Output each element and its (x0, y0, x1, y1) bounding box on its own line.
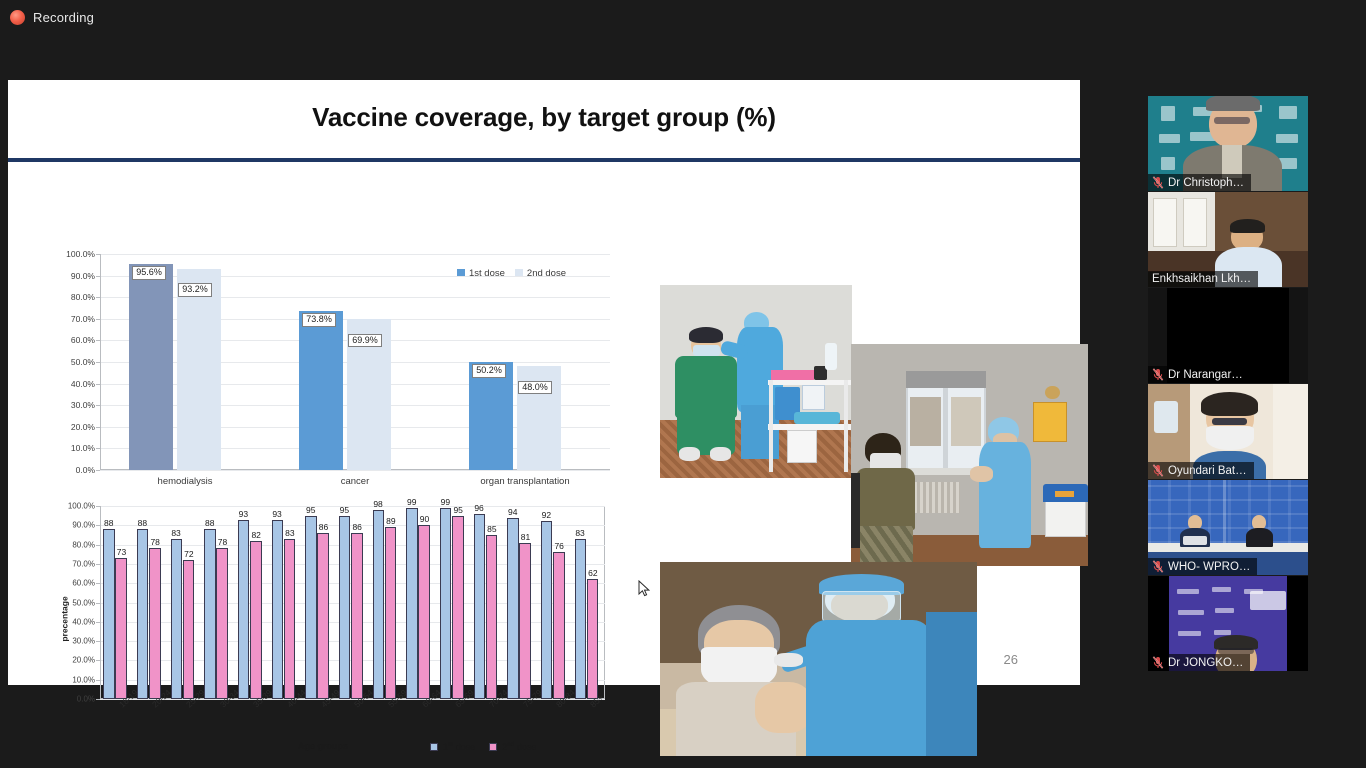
age-group-coverage-chart: precentage 0.0%10.0%20.0%30.0%40.0%50.0%… (40, 502, 620, 757)
legend-label-1st-dose-age: 1st dose (443, 742, 475, 752)
chart2-y-tickmark (96, 699, 100, 700)
mute-icon (1152, 656, 1164, 669)
chart2-data-label: 88 (136, 518, 149, 528)
chart2-category-group: 836285+ (571, 506, 605, 699)
chart2-bar (406, 508, 417, 699)
participant-name-badge: Dr Narangar… (1148, 366, 1250, 383)
chart2-y-tick: 30.0% (72, 637, 95, 646)
chart2-bar (317, 533, 328, 699)
slide-number: 26 (1004, 652, 1018, 667)
chart1-y-tick: 30.0% (71, 400, 95, 410)
chart2-y-tick: 40.0% (72, 617, 95, 626)
chart2-bar (418, 525, 429, 699)
chart2-data-label: 76 (552, 541, 565, 551)
chart2-data-label: 89 (384, 516, 397, 526)
legend-swatch-1st-dose-age (430, 743, 438, 751)
chart2-data-label: 62 (586, 568, 599, 578)
participant-tile[interactable]: Dr Narangar… (1148, 288, 1308, 383)
chart2-data-label: 86 (350, 522, 363, 532)
chart2-y-tick: 60.0% (72, 579, 95, 588)
chart1-y-tick: 80.0% (71, 292, 95, 302)
chart2-bar (474, 514, 485, 699)
chart2-bar (137, 529, 148, 699)
chart2-data-label: 82 (249, 530, 262, 540)
chart2-y-tick: 80.0% (72, 540, 95, 549)
chart2-data-label: 81 (519, 532, 532, 542)
chart1-data-label: 48.0% (518, 381, 552, 394)
legend-item-2nd-dose-age: 2nd dose (489, 741, 536, 752)
chart1-plot-area: 0.0%10.0%20.0%30.0%40.0%50.0%60.0%70.0%8… (100, 254, 610, 470)
chart2-data-label: 93 (270, 509, 283, 519)
chart2-category-group: 938235-39 (235, 506, 269, 699)
chart2-data-label: 95 (304, 505, 317, 515)
chart1-y-tick: 70.0% (71, 314, 95, 324)
chart2-bar (204, 529, 215, 699)
mouse-pointer-icon (638, 580, 650, 598)
chart2-y-tick: 10.0% (72, 675, 95, 684)
chart2-bar (440, 508, 451, 699)
chart2-bar (351, 533, 362, 699)
chart2-bar (385, 527, 396, 699)
legend-swatch-2nd-dose-age (489, 743, 497, 751)
mute-icon (1152, 176, 1164, 189)
chart2-bar (553, 552, 564, 699)
chart1-y-tick: 50.0% (71, 357, 95, 367)
page-title: Vaccine coverage, by target group (%) (8, 102, 1080, 133)
chart1-bar (129, 264, 173, 470)
elderly-vaccination-photo (660, 562, 977, 756)
participant-filmstrip[interactable]: Dr Christoph…Enkhsaikhan Lkh…Dr Narangar… (1148, 96, 1308, 672)
chart2-bar (284, 539, 295, 699)
participant-name-badge: Dr Christoph… (1148, 174, 1251, 191)
participant-name: Dr JONGKO… (1168, 657, 1243, 669)
chart1-category-label: cancer (270, 476, 440, 487)
legend-label-2nd-dose-age: 2nd dose (502, 742, 536, 752)
chart2-category-group: 999565-69 (437, 506, 471, 699)
chart1-y-tickmark (96, 470, 100, 471)
chart1-y-tick: 100.0% (66, 249, 95, 259)
chart2-bar (587, 579, 598, 699)
participant-name: Dr Narangar… (1168, 369, 1243, 381)
chart2-bar (216, 548, 227, 699)
participant-name: Oyundari Bat… (1168, 465, 1247, 477)
participant-name-badge: Dr JONGKO… (1148, 654, 1250, 671)
chart1-y-tick: 60.0% (71, 335, 95, 345)
chart2-bar (452, 516, 463, 699)
chart1-y-tick: 10.0% (71, 443, 95, 453)
chart2-data-label: 78 (216, 537, 229, 547)
chart2-x-axis-label: Age groups (298, 741, 348, 751)
chart2-category-group: 927680-84 (538, 506, 572, 699)
chart2-bar (272, 520, 283, 699)
chart1-y-tick: 40.0% (71, 379, 95, 389)
chart2-data-label: 73 (115, 547, 128, 557)
chart2-data-label: 88 (102, 518, 115, 528)
chart2-data-label: 92 (540, 510, 553, 520)
chart1-data-label: 93.2% (178, 283, 212, 296)
chart2-bar (250, 541, 261, 699)
chart2-y-tick: 100.0% (68, 502, 95, 511)
participant-tile[interactable]: Enkhsaikhan Lkh… (1148, 192, 1308, 287)
chart2-data-label: 83 (283, 528, 296, 538)
record-dot-icon (10, 10, 25, 25)
chart1-bar (299, 311, 343, 470)
chart2-data-label: 95 (338, 505, 351, 515)
participant-tile[interactable]: Dr JONGKO… (1148, 576, 1308, 671)
chart2-bar (519, 543, 530, 699)
chart1-data-label: 69.9% (348, 334, 382, 347)
title-divider (8, 158, 1080, 162)
chart2-category-group: 887820-24 (134, 506, 168, 699)
chart2-category-group: 938340-44 (268, 506, 302, 699)
chart2-category-group: 988955-59 (369, 506, 403, 699)
chart2-bar (305, 516, 316, 699)
chart2-bar (183, 560, 194, 699)
vaccination-room-photo (851, 344, 1088, 566)
chart1-category-group: 50.2%48.0%organ transplantation (440, 254, 610, 470)
mute-icon (1152, 464, 1164, 477)
recording-label: Recording (33, 10, 94, 25)
chart1-y-tick: 20.0% (71, 422, 95, 432)
legend-item-1st-dose-age: 1st dose (430, 741, 475, 752)
chart1-y-tick: 90.0% (71, 271, 95, 281)
chart2-data-label: 72 (182, 549, 195, 559)
participant-tile[interactable]: Dr Christoph… (1148, 96, 1308, 191)
chart2-bar (115, 558, 126, 699)
chart1-bar (177, 269, 221, 470)
chart2-data-label: 86 (317, 522, 330, 532)
participant-name-badge: Enkhsaikhan Lkh… (1148, 271, 1258, 287)
chart2-bar (149, 548, 160, 699)
chart1-gridline (100, 470, 610, 471)
chart2-data-label: 83 (169, 528, 182, 538)
chart2-data-label: 96 (472, 503, 485, 513)
chart2-category-group: 887830-34 (201, 506, 235, 699)
chart1-y-tick: 0.0% (76, 465, 95, 475)
chart2-bar (541, 521, 552, 699)
target-group-coverage-chart: 1st dose 2nd dose 0.0%10.0%20.0%30.0%40.… (40, 248, 620, 498)
participant-name: Dr Christoph… (1168, 177, 1244, 189)
participant-name: Enkhsaikhan Lkh… (1152, 273, 1251, 285)
chart2-y-axis-label: precentage (60, 597, 70, 642)
chart2-category-group: 968570-74 (470, 506, 504, 699)
chart2-category-group: 837225-29 (167, 506, 201, 699)
participant-tile[interactable]: WHO- WPRO… (1148, 480, 1308, 575)
chart2-plot-area: 0.0%10.0%20.0%30.0%40.0%50.0%60.0%70.0%8… (100, 506, 605, 699)
chart2-category-group: 999060-64 (403, 506, 437, 699)
mute-icon (1152, 560, 1164, 573)
chart2-data-label: 78 (148, 537, 161, 547)
chart2-category-group: 958650-54 (336, 506, 370, 699)
chart2-data-label: 98 (371, 499, 384, 509)
chart2-data-label: 90 (418, 514, 431, 524)
chart1-category-label: organ transplantation (440, 476, 610, 487)
chart2-data-label: 85 (485, 524, 498, 534)
participant-name-badge: WHO- WPRO… (1148, 558, 1257, 575)
chart2-bar (171, 539, 182, 699)
chart1-data-label: 50.2% (472, 364, 506, 377)
chart1-category-label: hemodialysis (100, 476, 270, 487)
chart1-bar (469, 362, 513, 470)
chart2-data-label: 95 (451, 505, 464, 515)
vaccination-clinic-photo (660, 285, 852, 478)
chart2-y-tick: 20.0% (72, 656, 95, 665)
chart2-data-label: 88 (203, 518, 216, 528)
chart2-category-group: 948175-79 (504, 506, 538, 699)
chart2-legend: 1st dose 2nd dose (430, 741, 536, 752)
chart2-bar (373, 510, 384, 699)
chart2-data-label: 99 (405, 497, 418, 507)
chart2-bar (103, 529, 114, 699)
chart2-data-label: 99 (439, 497, 452, 507)
participant-name-badge: Oyundari Bat… (1148, 462, 1254, 479)
chart2-bar (507, 518, 518, 699)
chart1-data-label: 73.8% (302, 313, 336, 326)
participant-name: WHO- WPRO… (1168, 561, 1250, 573)
shared-slide: Vaccine coverage, by target group (%) 26… (8, 80, 1080, 685)
chart1-category-group: 95.6%93.2%hemodialysis (100, 254, 270, 470)
chart2-y-tick: 0.0% (77, 695, 95, 704)
chart2-y-tick: 90.0% (72, 521, 95, 530)
recording-indicator: Recording (10, 10, 94, 25)
chart1-category-group: 73.8%69.9%cancer (270, 254, 440, 470)
chart2-y-tick: 70.0% (72, 559, 95, 568)
chart2-bar (486, 535, 497, 699)
chart2-bar (238, 520, 249, 699)
mute-icon (1152, 368, 1164, 381)
meeting-screen-share-window: Recording Vaccine coverage, by target gr… (0, 0, 1366, 768)
chart1-data-label: 95.6% (132, 266, 166, 279)
chart2-data-label: 93 (237, 509, 250, 519)
participant-tile[interactable]: Oyundari Bat… (1148, 384, 1308, 479)
chart2-category-group: 887318-19 (100, 506, 134, 699)
chart2-y-tick: 50.0% (72, 598, 95, 607)
chart2-category-group: 958645-49 (302, 506, 336, 699)
chart2-data-label: 94 (506, 507, 519, 517)
chart2-bar (575, 539, 586, 699)
chart2-data-label: 83 (573, 528, 586, 538)
chart2-bar (339, 516, 350, 699)
